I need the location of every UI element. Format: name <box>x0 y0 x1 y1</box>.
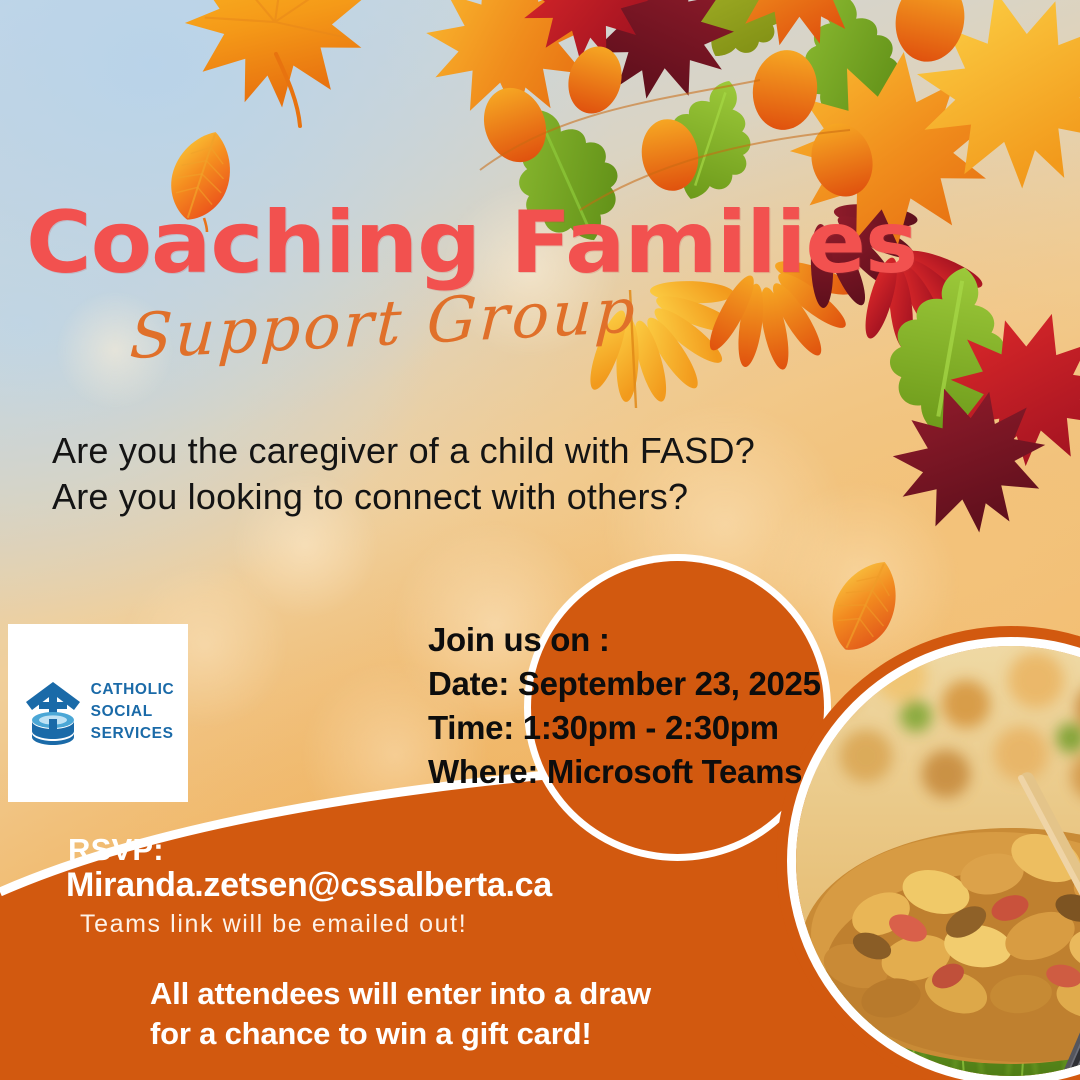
flyer-canvas: Coaching Families Support Group Are you … <box>0 0 1080 1080</box>
intro-questions: Are you the caregiver of a child with FA… <box>52 428 755 520</box>
catholic-social-services-logo: CATHOLIC SOCIAL SERVICES <box>8 624 188 802</box>
rsvp-label: RSVP: <box>68 832 164 868</box>
draw-line-2: for a chance to win a gift card! <box>150 1014 651 1054</box>
question-line-1: Are you the caregiver of a child with FA… <box>52 428 755 474</box>
logo-line-2: SOCIAL <box>91 701 175 723</box>
logo-wordmark: CATHOLIC SOCIAL SERVICES <box>91 679 175 745</box>
question-line-2: Are you looking to connect with others? <box>52 474 755 520</box>
draw-line-1: All attendees will enter into a draw <box>150 974 651 1014</box>
logo-line-3: SERVICES <box>91 723 175 745</box>
well-cross-logo-icon <box>22 679 84 745</box>
event-intro: Join us on : <box>428 618 821 662</box>
logo-line-1: CATHOLIC <box>91 679 175 701</box>
prize-draw-text: All attendees will enter into a draw for… <box>150 974 651 1055</box>
event-time: Time: 1:30pm - 2:30pm <box>428 706 821 750</box>
event-details-text: Join us on : Date: September 23, 2025 Ti… <box>428 618 821 794</box>
event-where: Where: Microsoft Teams <box>428 750 821 794</box>
event-date: Date: September 23, 2025 <box>428 662 821 706</box>
rsvp-email-address[interactable]: Miranda.zetsen@cssalberta.ca <box>66 866 552 905</box>
rsvp-note: Teams link will be emailed out! <box>80 910 467 939</box>
page-title: Coaching Families <box>26 200 917 286</box>
